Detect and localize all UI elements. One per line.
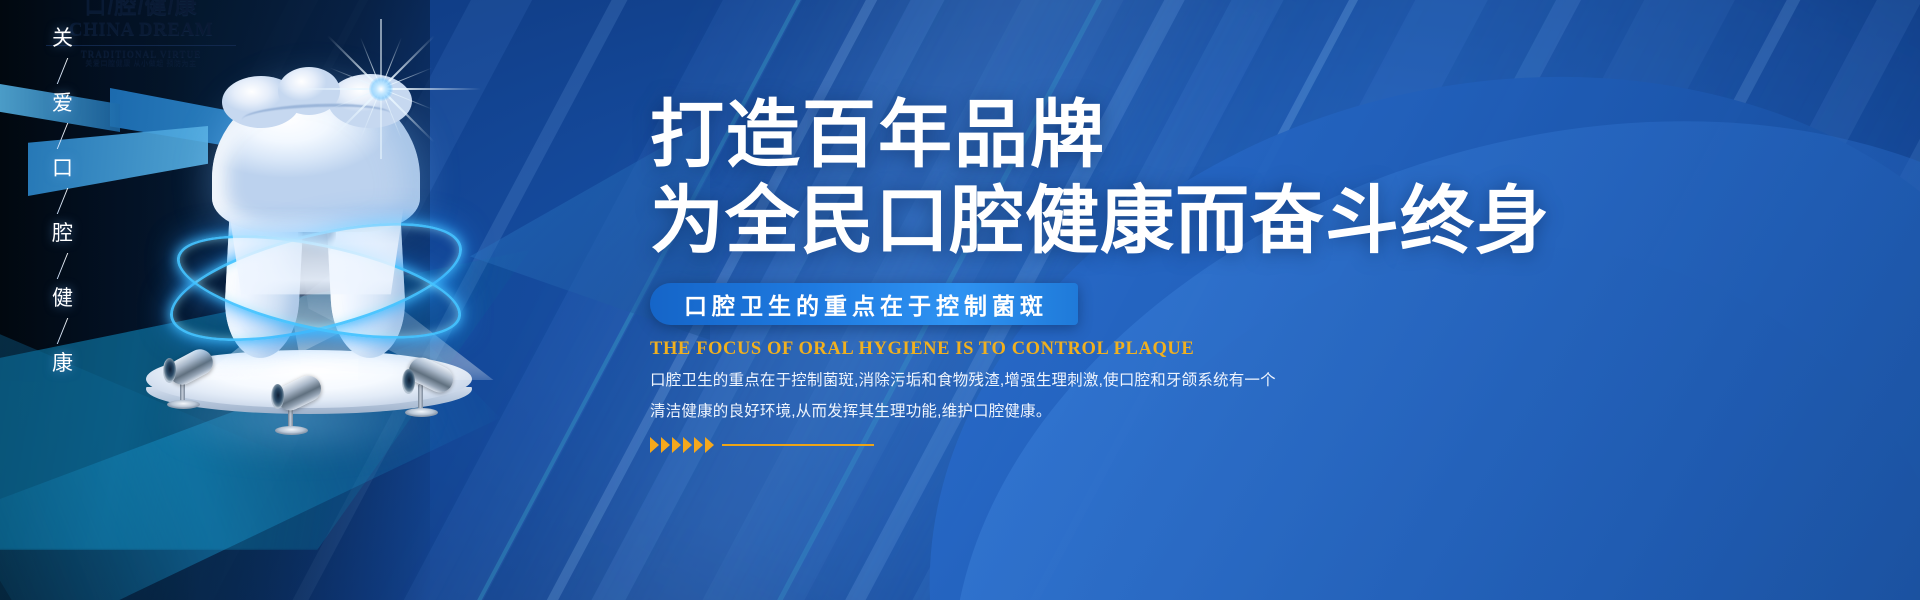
vertical-slogan-char: 健: [52, 288, 73, 309]
vertical-slogan-char: 康: [52, 353, 73, 374]
sparkle-core: [369, 77, 393, 101]
spotlight-base: [167, 400, 200, 409]
vertical-slogan-separator: [57, 58, 69, 84]
chevron-accent: [650, 437, 1430, 453]
vertical-slogan-separator: [57, 123, 69, 149]
body-line-1: 口腔卫生的重点在于控制菌斑,消除污垢和食物残渣,增强生理刺激,使口腔和牙颌系统有…: [650, 365, 1430, 396]
content-block: 打造百年品牌 为全民口腔健康而奋斗终身 口腔卫生的重点在于控制菌斑 THE FO…: [650, 96, 1430, 453]
spotlight-base: [405, 408, 438, 417]
vertical-slogan-separator: [57, 318, 69, 344]
subtitle-pill: 口腔卫生的重点在于控制菌斑: [650, 283, 1078, 325]
stage-disc-icon: [146, 350, 472, 424]
vertical-slogan-char: 口: [52, 158, 73, 179]
spotlight-lens: [402, 369, 415, 394]
vertical-slogan-char: 腔: [52, 223, 73, 244]
sparkle-icon: [376, 84, 386, 94]
chevron-icon: [661, 437, 670, 453]
accent-line: [722, 444, 874, 447]
vertical-slogan-separator: [57, 188, 69, 214]
spotlight-stem: [418, 384, 423, 410]
english-tagline: THE FOCUS OF ORAL HYGIENE IS TO CONTROL …: [650, 339, 1430, 360]
chevron-icon: [705, 437, 714, 453]
chevron-icon: [672, 437, 681, 453]
vertical-slogan: 关 爱 口 腔 健 康: [52, 28, 73, 374]
headline-line-2: 为全民口腔健康而奋斗终身: [650, 182, 1430, 260]
tooth-illustration: [140, 58, 500, 428]
vertical-slogan-char: 关: [52, 28, 73, 49]
spotlight-base: [275, 426, 308, 435]
headline-line-1: 打造百年品牌: [650, 96, 1430, 174]
body-line-2: 清洁健康的良好环境,从而发挥其生理功能,维护口腔健康。: [650, 396, 1430, 427]
vertical-slogan-char: 爱: [52, 93, 73, 114]
spotlight-lens: [271, 384, 284, 409]
chevron-icon: [683, 437, 692, 453]
vertical-slogan-separator: [57, 253, 69, 279]
spotlight-lens: [163, 358, 176, 383]
chevron-icon: [694, 437, 703, 453]
oral-health-banner: 口/腔/健/康 CHINA DREAM TRADITIONAL VIRTUE 关…: [0, 0, 1920, 600]
chevron-icon: [650, 437, 659, 453]
body-paragraph: 口腔卫生的重点在于控制菌斑,消除污垢和食物残渣,增强生理刺激,使口腔和牙颌系统有…: [650, 365, 1430, 427]
